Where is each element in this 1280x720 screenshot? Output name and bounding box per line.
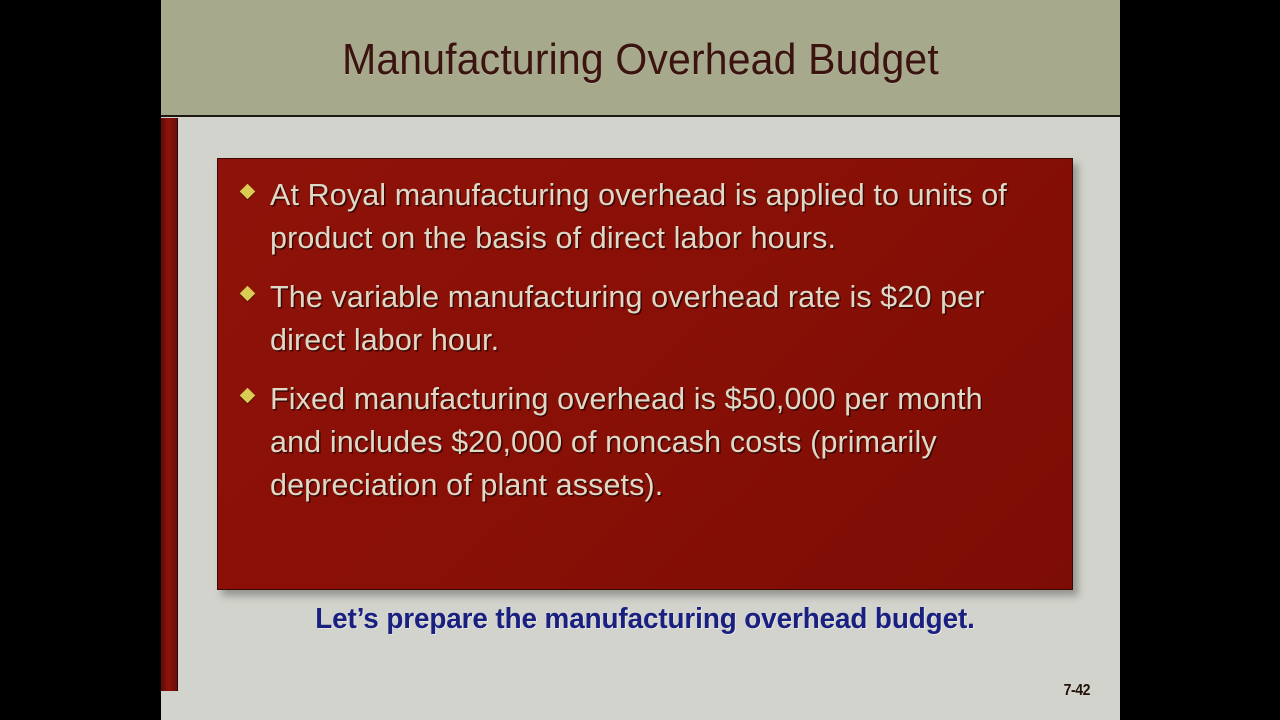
page-number: 7-42 [1064, 682, 1090, 700]
bullet-item-text: Fixed manufacturing overhead is $50,000 … [270, 377, 1038, 506]
bullet-item: Fixed manufacturing overhead is $50,000 … [230, 377, 1050, 506]
content-panel: At Royal manufacturing overhead is appli… [217, 158, 1073, 590]
slide-caption: Let’s prepare the manufacturing overhead… [234, 597, 1056, 642]
page-title: Manufacturing Overhead Budget [195, 0, 1087, 113]
diamond-bullet-icon [240, 388, 256, 404]
slide-title-band: Manufacturing Overhead Budget [161, 0, 1120, 117]
diamond-bullet-icon [240, 184, 256, 200]
screen: Manufacturing Overhead Budget At Royal m… [0, 0, 1280, 720]
bullet-item-text: The variable manufacturing overhead rate… [270, 275, 1038, 361]
bullet-item-text: At Royal manufacturing overhead is appli… [270, 173, 1038, 259]
bullet-item: At Royal manufacturing overhead is appli… [230, 173, 1050, 259]
left-accent-strip [161, 118, 178, 691]
bullet-item: The variable manufacturing overhead rate… [230, 275, 1050, 361]
diamond-bullet-icon [240, 286, 256, 302]
presentation-slide: Manufacturing Overhead Budget At Royal m… [161, 0, 1120, 720]
